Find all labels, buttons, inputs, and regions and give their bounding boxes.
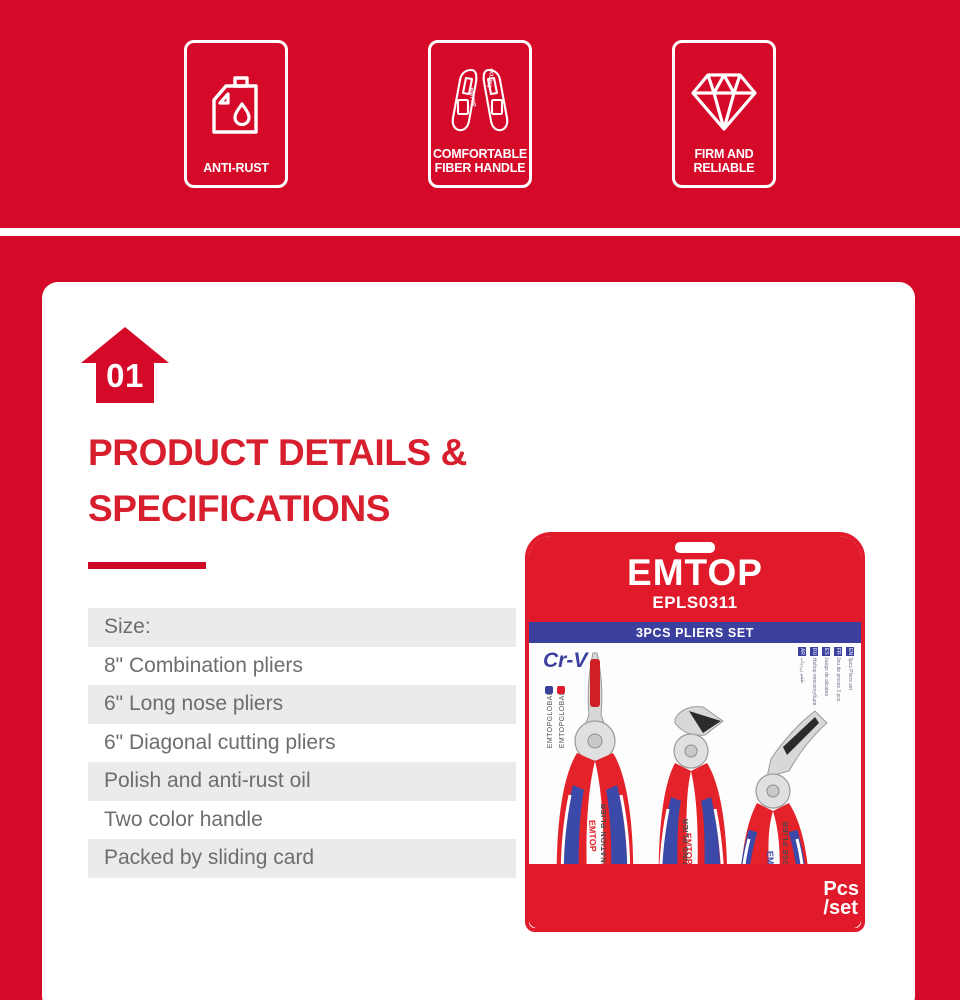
spec-row: 6" Long nose pliers [88,685,516,724]
brand-logo: EMTOP [529,552,861,594]
feature-label: ANTI-RUST [203,162,269,178]
spec-row: Packed by sliding card [88,839,516,878]
quantity-badge-line2: /set [823,899,859,918]
product-image: EMTOP EPLS0311 3PCS PLIERS SET Cr-V EMTO… [525,532,910,937]
title-underline-rule [88,562,206,569]
svg-text:EMTOP: EMTOP [587,820,598,852]
banner-divider [0,228,960,236]
page-title-line1: PRODUCT DETAILS & [88,425,558,481]
spec-row: Polish and anti-rust oil [88,762,516,801]
oil-can-icon [191,53,281,162]
section-number: 01 [80,325,170,405]
diamond-icon [679,53,769,148]
quantity-badge: Pcs /set [823,880,859,918]
spec-row: Two color handle [88,801,516,840]
spec-row: 6" Diagonal cutting pliers [88,724,516,763]
feature-banner: ANTI-RUST EMTOP EMTOP COMFORTAB [0,0,960,228]
spec-row: 8" Combination pliers [88,647,516,686]
feature-card-anti-rust: ANTI-RUST [184,40,288,188]
page-title-line2: SPECIFICATIONS [88,481,558,537]
pack-body: Cr-V EMTOPGLOBAL EMTOPGLOBAL EN 3pcs Pli… [529,643,861,928]
feature-card-fiber-handle: EMTOP EMTOP COMFORTABLE FIBER HANDLE [428,40,532,188]
spec-row: Size: [88,608,516,647]
feature-card-firm-reliable: FIRM AND RELIABLE [672,40,776,188]
product-detail-page: ANTI-RUST EMTOP EMTOP COMFORTAB [0,0,960,1000]
section-number-badge: 01 [80,325,170,405]
page-title: PRODUCT DETAILS & SPECIFICATIONS [88,425,558,537]
set-name-band: 3PCS PLIERS SET [529,622,861,643]
blister-pack-card: EMTOP EPLS0311 3PCS PLIERS SET Cr-V EMTO… [525,532,865,932]
pack-footer [529,864,861,928]
specification-list: Size: 8" Combination pliers 6" Long nose… [88,608,516,878]
pliers-handles-icon: EMTOP EMTOP [435,53,525,148]
pack-header: EMTOP EPLS0311 [529,536,861,628]
feature-label: COMFORTABLE FIBER HANDLE [433,148,527,177]
model-number: EPLS0311 [529,593,861,613]
feature-label: FIRM AND RELIABLE [694,148,755,177]
